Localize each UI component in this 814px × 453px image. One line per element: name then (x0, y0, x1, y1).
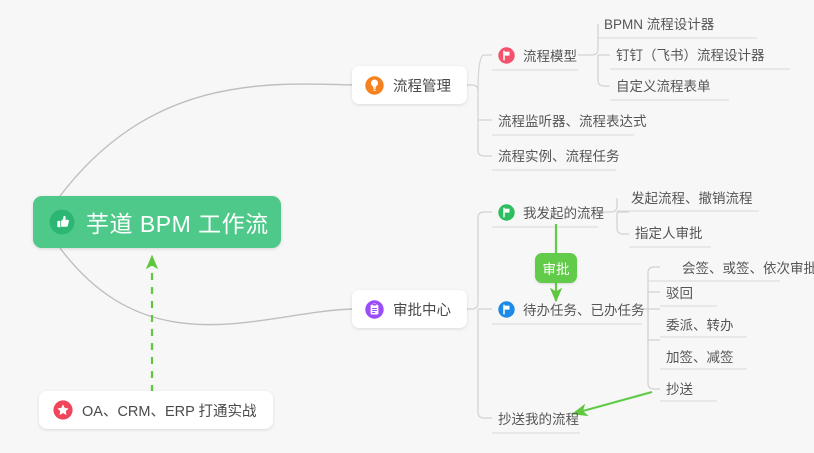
leaf-node-reject[interactable]: 驳回 (660, 277, 702, 307)
leaf-node-dingtalk-designer[interactable]: 钉钉（飞书）流程设计器 (610, 39, 774, 69)
leaf-label-countersign: 会签、或签、依次审批 (682, 257, 814, 277)
leaf-node-bpmn-designer[interactable]: BPMN 流程设计器 (598, 8, 723, 38)
leaf-node-delegate-transfer[interactable]: 委派、转办 (660, 309, 743, 339)
leaf-label-process-instance-task: 流程实例、流程任务 (498, 145, 620, 165)
leaf-node-process-model[interactable]: 流程模型 (492, 40, 586, 70)
leaf-node-process-instance-task[interactable]: 流程实例、流程任务 (492, 140, 629, 170)
leaf-node-process-listener[interactable]: 流程监听器、流程表达式 (492, 105, 656, 135)
branch-node-approval-center[interactable]: 审批中心 (352, 290, 467, 328)
leaf-node-add-remove-sign[interactable]: 加签、减签 (660, 341, 743, 371)
root-node[interactable]: 芋道 BPM 工作流 (33, 196, 281, 248)
thumbs-up-icon (49, 209, 75, 235)
leaf-label-assignee-approval: 指定人审批 (635, 222, 703, 242)
leaf-label-custom-process-form: 自定义流程表单 (616, 75, 711, 95)
leaf-label-process-model: 流程模型 (523, 45, 577, 65)
link-root-to-process-management (60, 84, 352, 196)
clipboard-icon (365, 300, 384, 319)
floating-card-label: OA、CRM、ERP 打通实战 (82, 400, 257, 421)
branch-label-process-management: 流程管理 (393, 75, 451, 96)
leaf-node-custom-process-form[interactable]: 自定义流程表单 (610, 70, 720, 100)
leaf-node-start-cancel-process[interactable]: 发起流程、撤销流程 (625, 182, 762, 212)
link-ac-to-cc-to-me (478, 309, 492, 418)
leaf-node-cc-to-me[interactable]: 抄送我的流程 (492, 403, 588, 433)
link-pm-to-process-model (478, 55, 492, 91)
leaf-label-cc-to-me: 抄送我的流程 (498, 408, 579, 428)
branch-node-process-management[interactable]: 流程管理 (352, 66, 467, 104)
tag-approval[interactable]: 审批 (535, 253, 577, 283)
leaf-node-cc[interactable]: 抄送 (660, 373, 702, 403)
flag-icon-red (498, 47, 515, 64)
leaf-node-todo-done-tasks[interactable]: 待办任务、已办任务 (492, 294, 654, 324)
flag-icon-green (498, 204, 515, 221)
tag-approval-label: 审批 (543, 258, 570, 278)
floating-card-oa-crm-erp[interactable]: OA、CRM、ERP 打通实战 (39, 391, 273, 429)
link-started-to-assignee (617, 212, 629, 234)
flag-icon-blue (498, 301, 515, 318)
leaf-node-assignee-approval[interactable]: 指定人审批 (629, 217, 712, 247)
leaf-node-my-started-process[interactable]: 我发起的流程 (492, 197, 613, 227)
leaf-label-my-started-process: 我发起的流程 (523, 202, 604, 222)
branch-label-approval-center: 审批中心 (393, 299, 451, 320)
leaf-label-dingtalk-designer: 钉钉（飞书）流程设计器 (616, 44, 765, 64)
leaf-label-cc: 抄送 (666, 378, 693, 398)
leaf-label-start-cancel-process: 发起流程、撤销流程 (631, 187, 753, 207)
link-model-to-custom-form (598, 55, 610, 86)
leaf-label-process-listener: 流程监听器、流程表达式 (498, 110, 647, 130)
star-icon (53, 400, 73, 420)
mindmap-canvas: 芋道 BPM 工作流 流程管理 审批中心 (0, 0, 814, 453)
leaf-label-todo-done-tasks: 待办任务、已办任务 (523, 299, 645, 319)
leaf-label-add-remove-sign: 加签、减签 (666, 346, 734, 366)
lightbulb-icon (365, 76, 384, 95)
link-root-to-approval-center (60, 248, 352, 325)
root-label: 芋道 BPM 工作流 (86, 205, 269, 239)
leaf-label-reject: 驳回 (666, 282, 693, 302)
leaf-label-bpmn-designer: BPMN 流程设计器 (604, 13, 714, 33)
leaf-label-delegate-transfer: 委派、转办 (666, 314, 734, 334)
